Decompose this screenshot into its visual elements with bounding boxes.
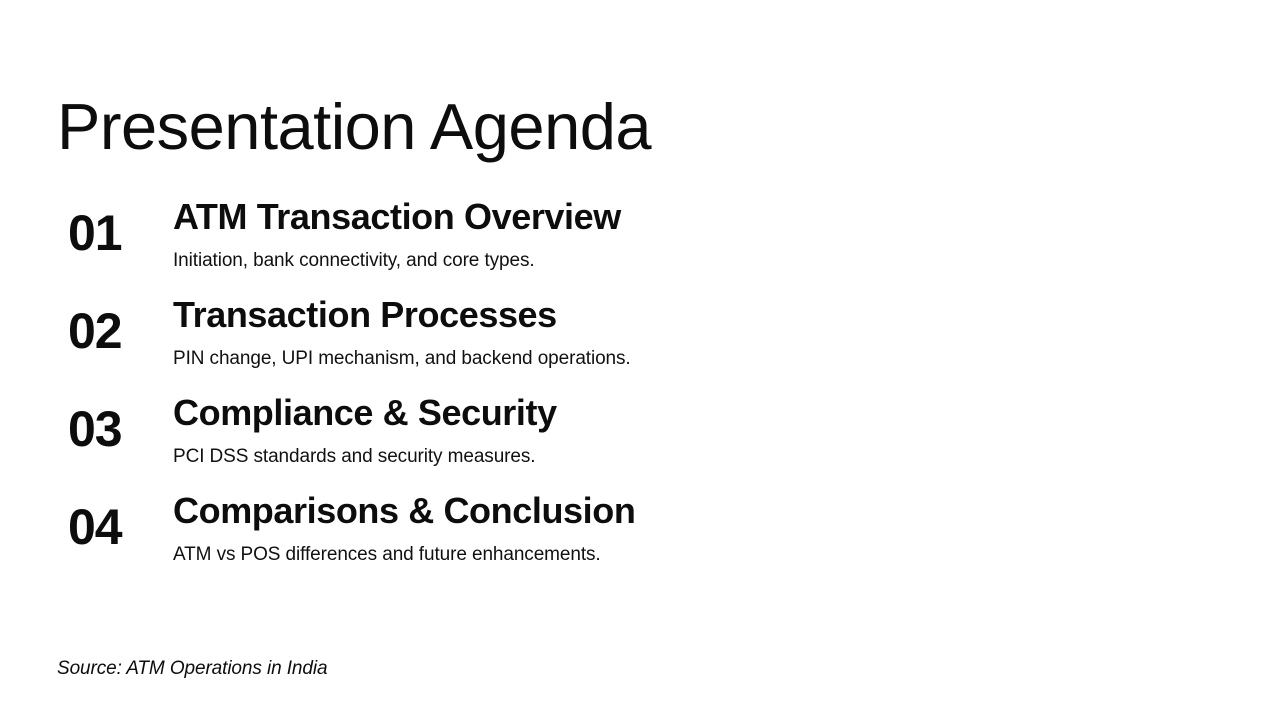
agenda-item-body: ATM Transaction Overview Initiation, ban…	[173, 196, 1240, 273]
agenda-list: 01 ATM Transaction Overview Initiation, …	[0, 196, 1280, 588]
agenda-item-number: 02	[68, 306, 122, 356]
presentation-slide: Presentation Agenda 01 ATM Transaction O…	[0, 0, 1280, 720]
agenda-item-body: Transaction Processes PIN change, UPI me…	[173, 294, 1240, 371]
agenda-item-body: Compliance & Security PCI DSS standards …	[173, 392, 1240, 469]
agenda-item-description: Initiation, bank connectivity, and core …	[173, 249, 1240, 273]
agenda-item-title: Transaction Processes	[173, 294, 1240, 336]
list-item[interactable]: 03 Compliance & Security PCI DSS standar…	[0, 392, 1280, 490]
agenda-item-description: ATM vs POS differences and future enhanc…	[173, 543, 1240, 567]
agenda-item-number: 03	[68, 404, 122, 454]
agenda-item-description: PCI DSS standards and security measures.	[173, 445, 1240, 469]
source-caption: Source: ATM Operations in India	[57, 657, 327, 681]
agenda-item-number: 01	[68, 208, 122, 258]
agenda-item-title: Compliance & Security	[173, 392, 1240, 434]
list-item[interactable]: 04 Comparisons & Conclusion ATM vs POS d…	[0, 490, 1280, 588]
list-item[interactable]: 01 ATM Transaction Overview Initiation, …	[0, 196, 1280, 294]
agenda-item-number: 04	[68, 502, 122, 552]
agenda-item-description: PIN change, UPI mechanism, and backend o…	[173, 347, 1240, 371]
page-title: Presentation Agenda	[57, 94, 651, 159]
list-item[interactable]: 02 Transaction Processes PIN change, UPI…	[0, 294, 1280, 392]
agenda-item-title: Comparisons & Conclusion	[173, 490, 1240, 532]
agenda-item-body: Comparisons & Conclusion ATM vs POS diff…	[173, 490, 1240, 567]
agenda-item-title: ATM Transaction Overview	[173, 196, 1240, 238]
